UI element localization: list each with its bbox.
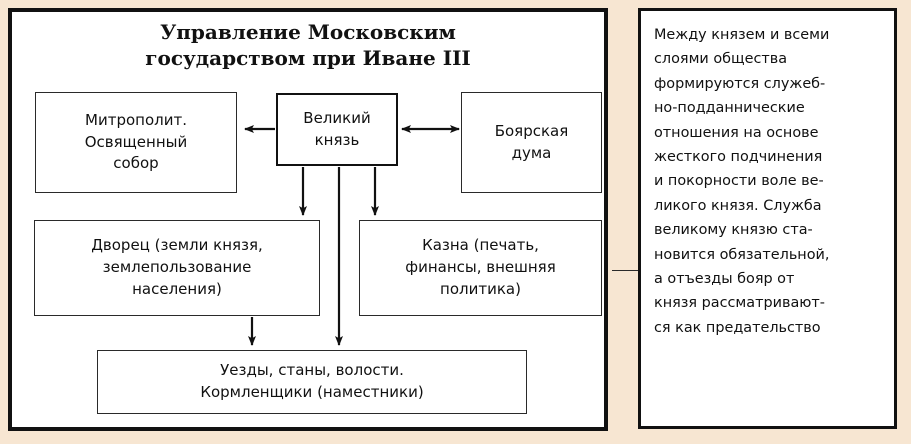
panel-connector-line xyxy=(612,270,640,271)
node-treasury[interactable]: Казна (печать, финансы, внешняя политика… xyxy=(359,220,602,316)
node-boyar-duma[interactable]: Боярская дума xyxy=(461,92,602,193)
diagram-panel: Управление Московским государством при И… xyxy=(8,8,608,431)
node-grand-prince[interactable]: Великий князь xyxy=(276,93,398,166)
node-metropolitan[interactable]: Митрополит. Освященный собор xyxy=(35,92,237,193)
note-panel: Между князем и всеми слоями общества фор… xyxy=(638,8,897,429)
node-districts[interactable]: Уезды, станы, волости. Кормленщики (наме… xyxy=(97,350,527,414)
node-palace[interactable]: Дворец (земли князя, землепользование на… xyxy=(34,220,320,316)
slide-root: Управление Московским государством при И… xyxy=(0,0,911,444)
note-text: Между князем и всеми слоями общества фор… xyxy=(654,23,882,340)
